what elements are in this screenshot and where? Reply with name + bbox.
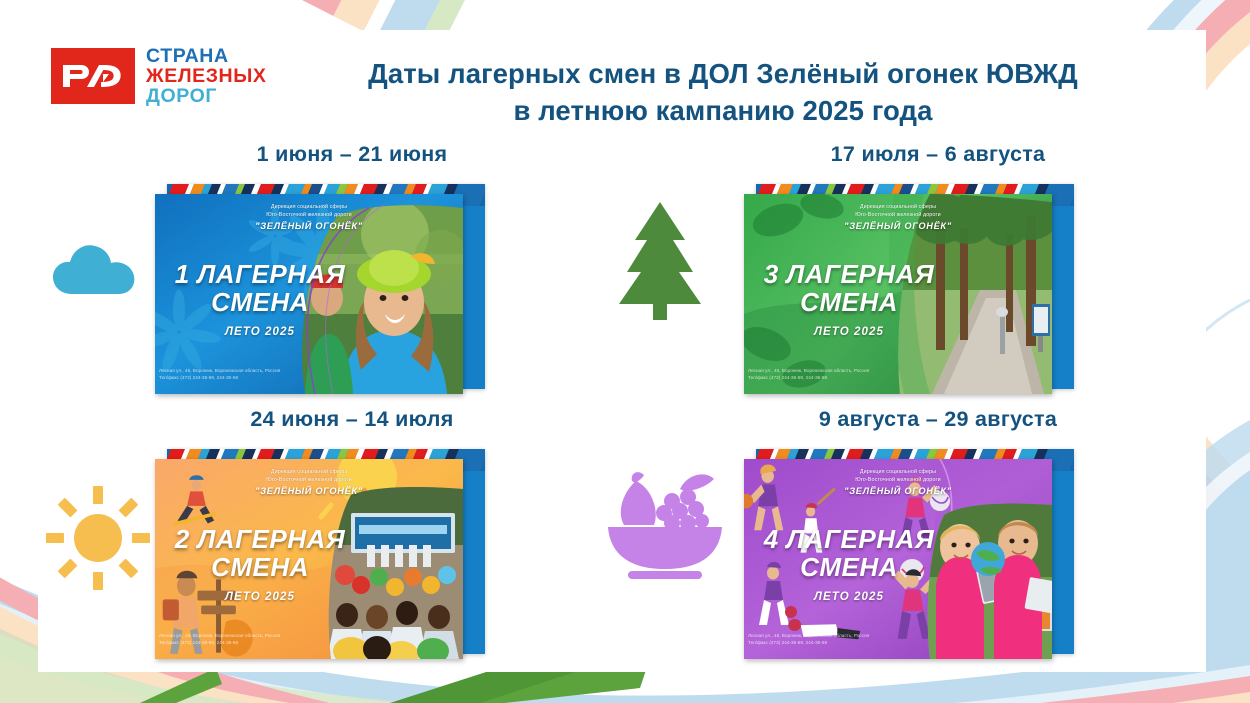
rzd-monogram-icon <box>59 59 127 93</box>
poster-artwork-4: Дирекция социальной сферы Юго-Восточной … <box>744 459 1052 659</box>
sun-icon <box>42 482 154 599</box>
poster-shift-title-4: 4 ЛАГЕРНАЯ СМЕНА <box>754 525 944 581</box>
shift-cell-2: 24 июня – 14 июля <box>38 407 622 672</box>
shift-cell-4: 9 августа – 29 августа <box>622 407 1206 672</box>
slide-content-panel: СТРАНА ЖЕЛЕЗНЫХ ДОРОГ Даты лагерных смен… <box>38 30 1206 672</box>
poster-artwork-3: Дирекция социальной сферы Юго-Восточной … <box>744 194 1052 394</box>
logo-text-line1: СТРАНА <box>146 46 267 66</box>
poster-shift-title-1: 1 ЛАГЕРНАЯ СМЕНА <box>165 260 355 316</box>
poster-address-2: Лесная ул., 46, Воронеж, Воронежская обл… <box>159 632 389 647</box>
shift-grid: 1 июня – 21 июня <box>38 142 1206 672</box>
poster-camp-name-1: "ЗЕЛЁНЫЙ ОГОНЁК" <box>155 221 463 231</box>
poster-season-3: ЛЕТО 2025 <box>754 326 944 338</box>
poster-card-2[interactable]: Дирекция социальной сферы Юго-Восточной … <box>155 459 463 659</box>
poster-camp-name-3: "ЗЕЛЁНЫЙ ОГОНЁК" <box>744 221 1052 231</box>
shift-dates-4: 9 августа – 29 августа <box>622 407 1206 432</box>
logo-text-line3: ДОРОГ <box>146 86 267 106</box>
fruit-bowl-icon <box>602 467 728 588</box>
poster-shift-title-3: 3 ЛАГЕРНАЯ СМЕНА <box>754 260 944 316</box>
fir-tree-icon <box>605 192 715 327</box>
poster-address-1: Лесная ул., 46, Воронеж, Воронежская обл… <box>159 367 389 382</box>
poster-artwork-2: Дирекция социальной сферы Юго-Восточной … <box>155 459 463 659</box>
poster-stack-4[interactable]: Дирекция социальной сферы Юго-Восточной … <box>744 449 1074 661</box>
poster-camp-name-2: "ЗЕЛЁНЫЙ ОГОНЁК" <box>155 486 463 496</box>
shift-dates-3: 17 июля – 6 августа <box>622 142 1206 167</box>
poster-season-4: ЛЕТО 2025 <box>754 591 944 603</box>
cloud-icon <box>50 234 150 309</box>
rzd-logo-mark <box>51 48 135 104</box>
shift-dates-2: 24 июня – 14 июля <box>38 407 622 432</box>
poster-camp-name-4: "ЗЕЛЁНЫЙ ОГОНЁК" <box>744 486 1052 496</box>
poster-address-3: Лесная ул., 46, Воронеж, Воронежская обл… <box>748 367 978 382</box>
poster-stack-2[interactable]: Дирекция социальной сферы Юго-Восточной … <box>155 449 485 661</box>
slide-title-line1: Даты лагерных смен в ДОЛ Зелёный огонек … <box>268 56 1178 93</box>
poster-season-1: ЛЕТО 2025 <box>165 326 355 338</box>
logo-text-line2: ЖЕЛЕЗНЫХ <box>146 66 267 86</box>
poster-card-3[interactable]: Дирекция социальной сферы Юго-Восточной … <box>744 194 1052 394</box>
poster-address-4: Лесная ул., 46, Воронеж, Воронежская обл… <box>748 632 978 647</box>
poster-card-1[interactable]: Дирекция социальной сферы Юго-Восточной … <box>155 194 463 394</box>
shift-cell-1: 1 июня – 21 июня <box>38 142 622 407</box>
poster-shift-title-2: 2 ЛАГЕРНАЯ СМЕНА <box>165 525 355 581</box>
poster-season-2: ЛЕТО 2025 <box>165 591 355 603</box>
poster-card-4[interactable]: Дирекция социальной сферы Юго-Восточной … <box>744 459 1052 659</box>
slide-title: Даты лагерных смен в ДОЛ Зелёный огонек … <box>268 56 1178 129</box>
shift-cell-3: 17 июля – 6 августа <box>622 142 1206 407</box>
shift-dates-1: 1 июня – 21 июня <box>38 142 622 167</box>
poster-stack-3[interactable]: Дирекция социальной сферы Юго-Восточной … <box>744 184 1074 396</box>
poster-stack-1[interactable]: Дирекция социальной сферы Юго-Восточной … <box>155 184 485 396</box>
poster-artwork-1: Дирекция социальной сферы Юго-Восточной … <box>155 194 463 394</box>
rzd-logo: СТРАНА ЖЕЛЕЗНЫХ ДОРОГ <box>51 46 267 106</box>
slide-title-line2: в летнюю кампанию 2025 года <box>268 93 1178 130</box>
